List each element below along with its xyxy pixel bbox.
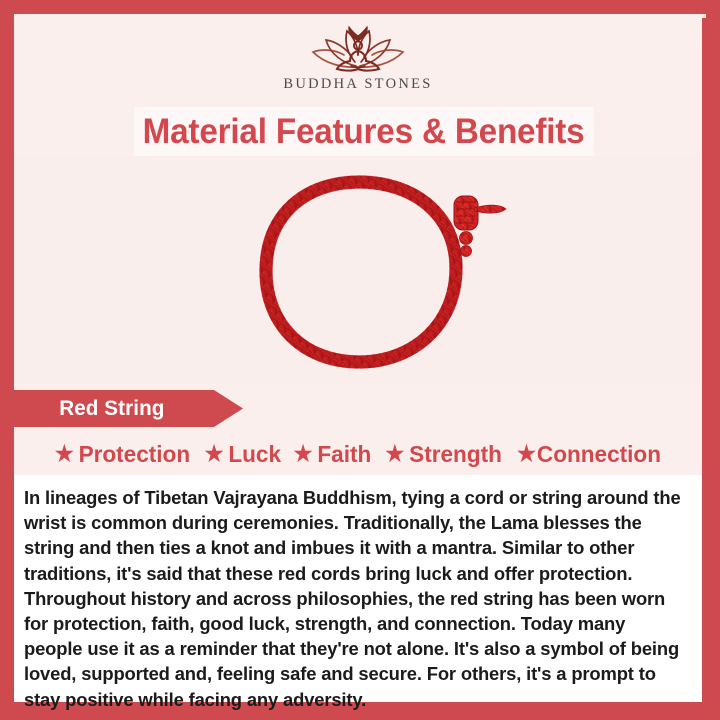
benefit-item-faith: ★ Faith (294, 441, 372, 468)
content-canvas: BUDDHA STONES Material Features & Benefi… (14, 18, 702, 702)
benefits-row: ★ Protection ★ Luck ★ Faith ★ Strength ★… (14, 434, 702, 475)
star-icon: ★ (385, 443, 404, 465)
benefit-label: Protection (78, 441, 190, 468)
brand-logo: BUDDHA STONES (14, 18, 702, 98)
benefit-label: Luck (228, 441, 281, 468)
red-string-bracelet-image (14, 156, 702, 384)
frame-border-top (0, 0, 720, 14)
product-name-label: Red String (59, 396, 164, 421)
description-text: In lineages of Tibetan Vajrayana Buddhis… (24, 485, 686, 712)
product-name-tab: Red String (0, 390, 243, 427)
frame-border-left (0, 0, 14, 720)
frame-border-right (702, 0, 720, 720)
benefit-item-luck: ★ Luck (204, 441, 280, 468)
lotus-meditation-figure-icon (299, 22, 417, 74)
brand-name: BUDDHA STONES (283, 76, 432, 93)
product-photo (14, 156, 702, 384)
description-panel: In lineages of Tibetan Vajrayana Buddhis… (14, 475, 702, 702)
benefit-item-protection: ★ Protection (54, 441, 189, 468)
star-icon: ★ (294, 443, 313, 465)
star-icon: ★ (517, 443, 536, 465)
benefit-label: Strength (409, 441, 502, 468)
benefit-label: Connection (537, 441, 661, 468)
benefit-label: Faith (318, 441, 372, 468)
benefit-item-strength: ★ Strength (385, 441, 501, 468)
star-icon: ★ (204, 443, 223, 465)
benefit-item-connection: ★ Connection (517, 441, 661, 468)
title-banner: Material Features & Benefits (134, 107, 594, 156)
star-icon: ★ (54, 443, 73, 465)
page-title: Material Features & Benefits (143, 112, 585, 152)
infographic-page: BUDDHA STONES Material Features & Benefi… (0, 0, 720, 720)
